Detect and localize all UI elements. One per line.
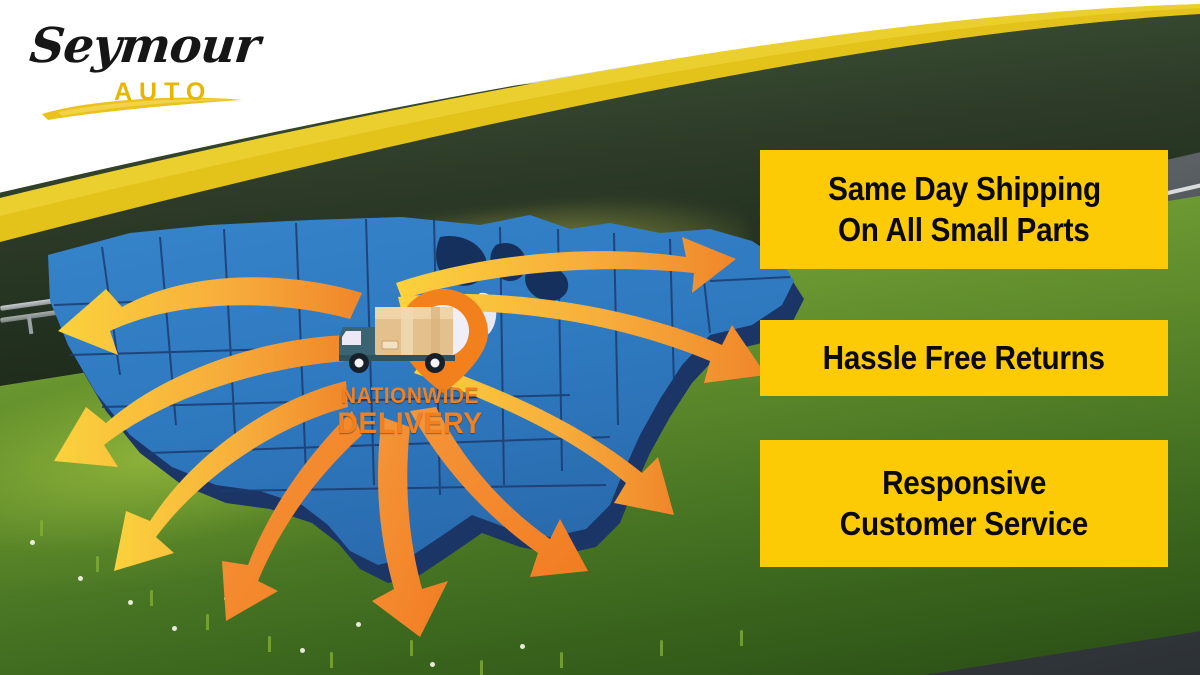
logo-wordmark-auto: AUTO [114,78,212,107]
feature-box-responsive-customer-service[interactable]: Responsive Customer Service [760,440,1168,567]
feature-box-same-day-shipping[interactable]: Same Day Shipping On All Small Parts [760,150,1168,269]
feature-line-3b: Customer Service [840,504,1088,544]
badge-line-nationwide: NATIONWIDE [329,385,491,407]
truck-and-pin-graphic [325,285,505,395]
nationwide-delivery-badge: NATIONWIDE DELIVERY [325,285,505,450]
badge-text-group: NATIONWIDE DELIVERY [325,385,495,439]
logo-wordmark-script: Seymour [27,18,262,74]
feature-line-2a: Hassle Free Returns [823,338,1105,378]
promo-banner: NATIONWIDE DELIVERY Seymour AUTO Same Da… [0,0,1200,675]
delivery-truck-icon [339,307,455,373]
seymour-auto-logo[interactable]: Seymour AUTO [28,20,258,120]
feature-line-1b: On All Small Parts [838,210,1090,250]
feature-line-1a: Same Day Shipping [828,169,1101,209]
feature-line-3a: Responsive [882,463,1046,503]
badge-line-delivery: DELIVERY [329,409,491,439]
feature-box-hassle-free-returns[interactable]: Hassle Free Returns [760,320,1168,396]
